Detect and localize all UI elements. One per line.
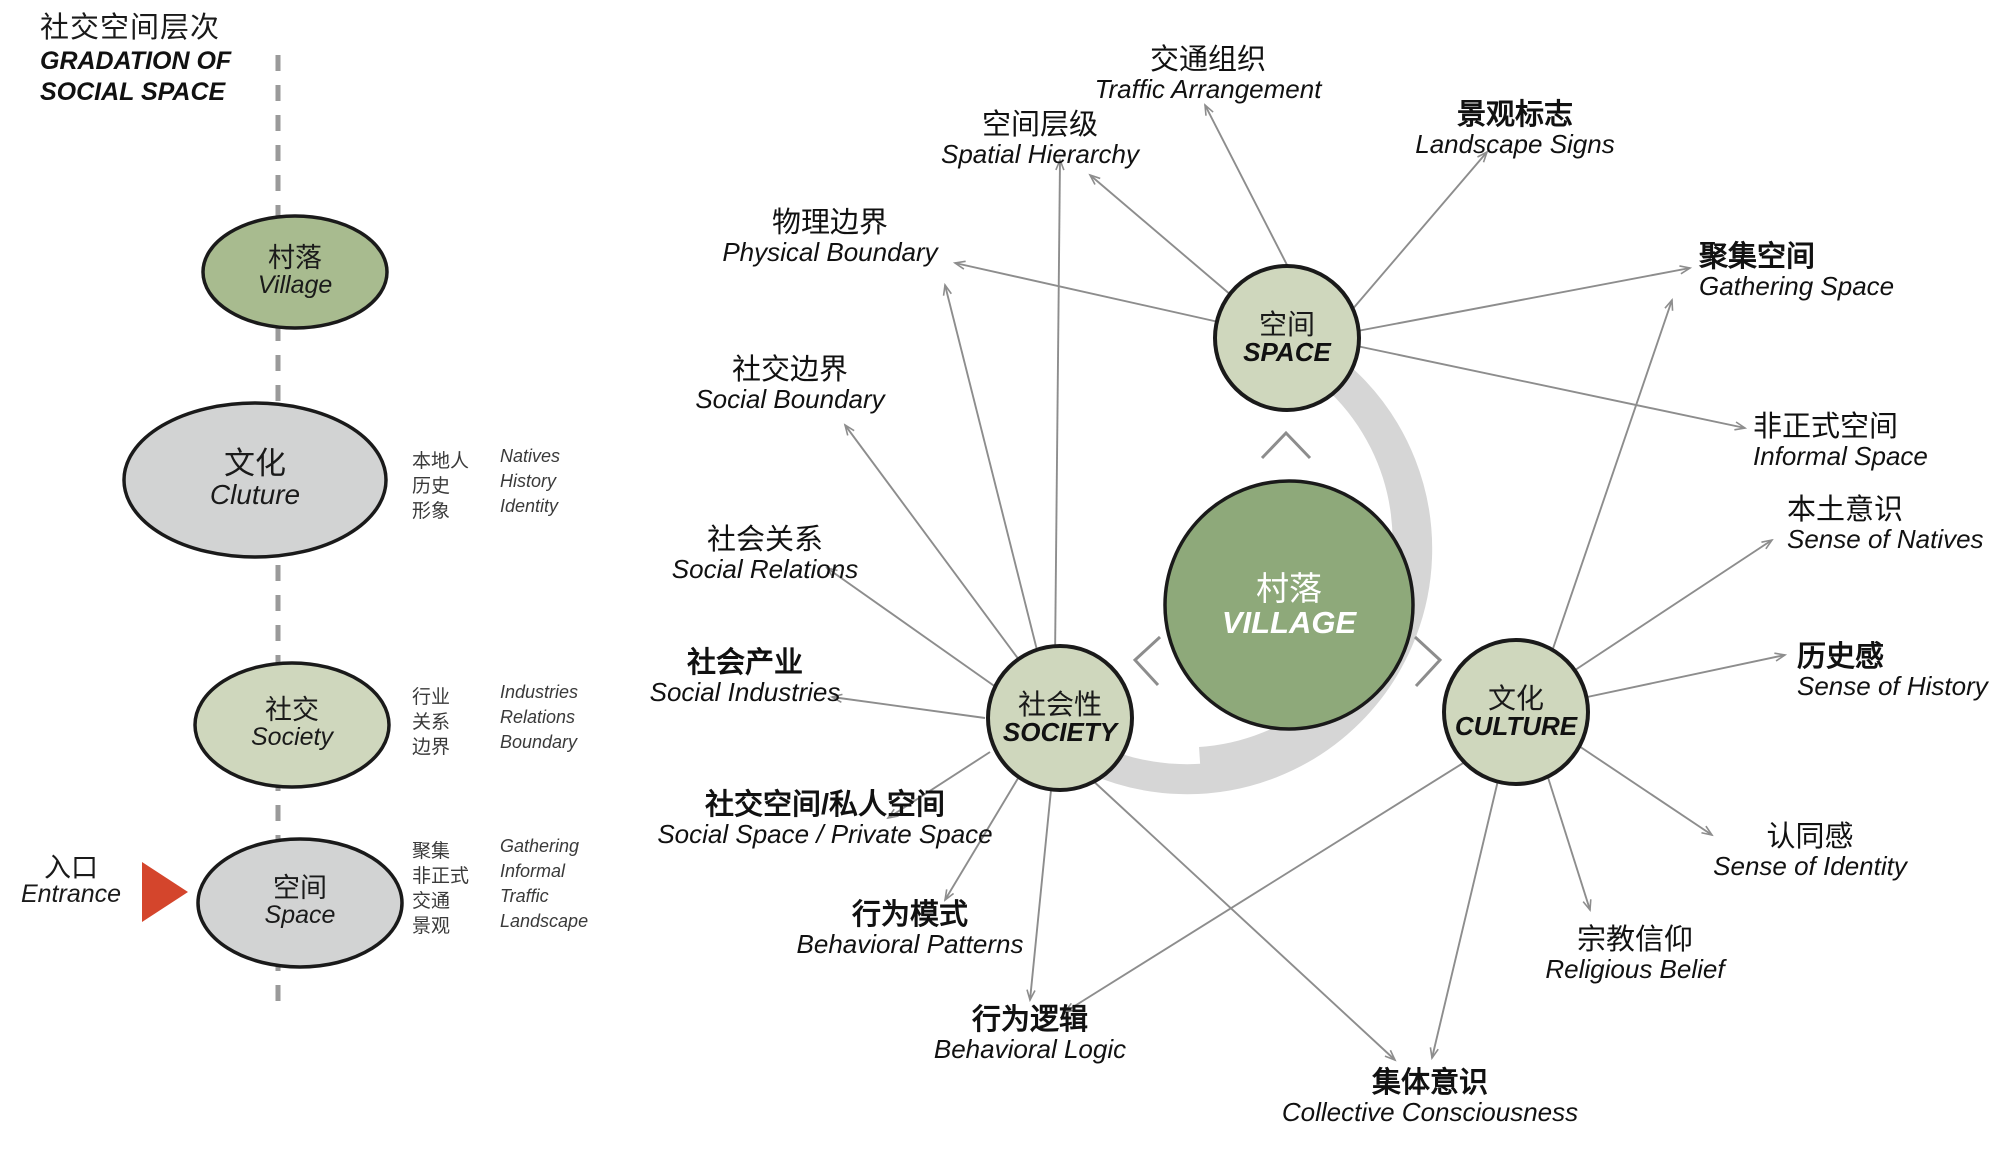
leaf-behavioral-logic-cn: 行为逻辑: [865, 1005, 1195, 1036]
edge-space-informal: [1352, 345, 1745, 428]
attribute-row: 历史History: [412, 471, 560, 496]
stage-label-space-cn: 空间: [220, 874, 380, 902]
leaf-behavioral-logic: 行为逻辑 Behavioral Logic: [865, 1005, 1195, 1063]
edge-culture-natives: [1560, 540, 1772, 680]
leaf-traffic-arrangement-en: Traffic Arrangement: [1028, 76, 1388, 104]
leaf-collective-consciousness: 集体意识 Collective Consciousness: [1245, 1068, 1615, 1126]
attribute-value: Relations: [500, 707, 575, 728]
leaf-sense-of-history-cn: 历史感: [1797, 642, 1988, 673]
stage-label-society-en: Society: [212, 724, 372, 750]
attribute-value: Landscape: [500, 911, 588, 932]
edge-culture-collect: [1432, 772, 1500, 1058]
entrance-label-en: Entrance: [6, 882, 136, 907]
stage-label-culture-cn: 文化: [175, 448, 335, 480]
attribute-value: History: [500, 471, 556, 492]
hub-label-society: 社会性 SOCIETY: [980, 690, 1140, 747]
edge-culture-history: [1573, 655, 1785, 700]
hub-label-culture-cn: 文化: [1436, 684, 1596, 713]
panel-title-en-line1: GRADATION OF: [40, 46, 340, 77]
attribute-row: 关系Relations: [412, 707, 578, 732]
leaf-sense-of-history: 历史感 Sense of History: [1797, 642, 1988, 700]
leaf-collective-consciousness-cn: 集体意识: [1245, 1068, 1615, 1099]
leaf-social-boundary-cn: 社交边界: [625, 355, 955, 386]
edge-culture-gathering: [1545, 300, 1672, 672]
edge-society-boundary-p: [945, 285, 1040, 662]
leaf-behavioral-patterns: 行为模式 Behavioral Patterns: [745, 900, 1075, 958]
leaf-social-relations-cn: 社会关系: [600, 525, 930, 556]
leaf-physical-boundary-cn: 物理边界: [665, 208, 995, 239]
attribute-key: 行业: [412, 682, 500, 709]
stage-label-village-cn: 村落: [215, 244, 375, 272]
leaf-sense-of-natives-en: Sense of Natives: [1787, 526, 1984, 554]
leaf-sense-of-identity: 认同感 Sense of Identity: [1645, 822, 1975, 880]
leaf-traffic-arrangement: 交通组织 Traffic Arrangement: [1028, 45, 1388, 103]
attribute-key: 非正式: [412, 861, 500, 888]
attribute-row: 景观Landscape: [412, 911, 588, 936]
stage-label-space: 空间 Space: [220, 874, 380, 928]
attribute-key: 本地人: [412, 446, 500, 473]
ring-chevron-top: [1262, 433, 1310, 458]
leaf-physical-boundary: 物理边界 Physical Boundary: [665, 208, 995, 266]
edge-society-hierarchy: [1055, 160, 1060, 660]
attribute-key: 关系: [412, 707, 500, 734]
leaf-religious-belief-cn: 宗教信仰: [1470, 925, 1800, 956]
attribute-value: Natives: [500, 446, 560, 467]
core-label-village-en: VILLAGE: [1189, 607, 1389, 640]
ring-chevron-right: [1415, 637, 1440, 686]
leaf-gathering-space: 聚集空间 Gathering Space: [1699, 242, 1894, 300]
panel-title-cn: 社交空间层次: [40, 10, 340, 46]
attribute-value: Industries: [500, 682, 578, 703]
leaf-sense-of-natives-cn: 本土意识: [1787, 495, 1984, 526]
attribute-row: 交通Traffic: [412, 886, 588, 911]
hub-label-society-en: SOCIETY: [980, 719, 1140, 746]
leaf-spatial-hierarchy-en: Spatial Hierarchy: [880, 141, 1200, 169]
entrance-label: 入口 Entrance: [6, 855, 136, 907]
attribute-row: 边界Boundary: [412, 732, 578, 757]
panel-title-en-line2: SOCIAL SPACE: [40, 77, 340, 108]
attribute-value: Traffic: [500, 886, 549, 907]
stage-label-village: 村落 Village: [215, 244, 375, 298]
stage-label-village-en: Village: [215, 272, 375, 298]
leaf-spatial-hierarchy-cn: 空间层级: [880, 110, 1200, 141]
attribute-key: 边界: [412, 732, 500, 759]
leaf-religious-belief-en: Religious Belief: [1470, 956, 1800, 984]
edge-society-behlogic: [1030, 780, 1052, 1000]
core-label-village-cn: 村落: [1189, 572, 1389, 607]
edge-space-physical: [955, 263, 1232, 325]
leaf-behavioral-patterns-cn: 行为模式: [745, 900, 1075, 931]
attribute-key: 形象: [412, 496, 500, 523]
leaf-social-private-space-cn: 社交空间/私人空间: [625, 790, 1025, 821]
leaf-social-industries: 社会产业 Social Industries: [580, 648, 910, 706]
leaf-social-private-space: 社交空间/私人空间 Social Space / Private Space: [625, 790, 1025, 848]
leaf-traffic-arrangement-cn: 交通组织: [1028, 45, 1388, 76]
stage-label-culture-en: Cluture: [175, 480, 335, 509]
leaf-landscape-signs-cn: 景观标志: [1355, 100, 1675, 131]
attribute-key: 交通: [412, 886, 500, 913]
leaf-landscape-signs: 景观标志 Landscape Signs: [1355, 100, 1675, 158]
attribute-key: 聚集: [412, 836, 500, 863]
attribute-value: Boundary: [500, 732, 577, 753]
stage-label-culture: 文化 Cluture: [175, 448, 335, 509]
panel-title: 社交空间层次 GRADATION OF SOCIAL SPACE: [40, 10, 340, 107]
hub-label-space: 空间 SPACE: [1207, 310, 1367, 367]
edge-culture-behlogic: [1065, 760, 1468, 1012]
stage-label-society: 社交 Society: [212, 696, 372, 750]
attributes-space: 聚集Gathering 非正式Informal 交通Traffic 景观Land…: [412, 836, 588, 936]
edge-culture-identity: [1570, 740, 1712, 835]
leaf-social-industries-en: Social Industries: [580, 679, 910, 707]
attribute-value: Identity: [500, 496, 558, 517]
attribute-key: 景观: [412, 911, 500, 938]
entrance-arrow-icon: [142, 862, 188, 922]
leaf-sense-of-identity-cn: 认同感: [1645, 822, 1975, 853]
attribute-row: 形象Identity: [412, 496, 560, 521]
leaf-social-boundary-en: Social Boundary: [625, 386, 955, 414]
leaf-sense-of-identity-en: Sense of Identity: [1645, 853, 1975, 881]
leaf-collective-consciousness-en: Collective Consciousness: [1245, 1099, 1615, 1127]
leaf-social-industries-cn: 社会产业: [580, 648, 910, 679]
attribute-row: 聚集Gathering: [412, 836, 588, 861]
hub-label-culture-en: CULTURE: [1436, 713, 1596, 740]
leaf-gathering-space-cn: 聚集空间: [1699, 242, 1894, 273]
leaf-informal-space-en: Informal Space: [1753, 443, 1928, 471]
leaf-informal-space-cn: 非正式空间: [1753, 412, 1928, 443]
leaf-social-boundary: 社交边界 Social Boundary: [625, 355, 955, 413]
hub-label-society-cn: 社会性: [980, 690, 1140, 719]
diagram-canvas: 社交空间层次 GRADATION OF SOCIAL SPACE 村落 Vill…: [0, 0, 2000, 1150]
attributes-culture: 本地人Natives 历史History 形象Identity: [412, 446, 560, 521]
attributes-society: 行业Industries 关系Relations 边界Boundary: [412, 682, 578, 757]
leaf-religious-belief: 宗教信仰 Religious Belief: [1470, 925, 1800, 983]
attribute-value: Informal: [500, 861, 565, 882]
leaf-gathering-space-en: Gathering Space: [1699, 273, 1894, 301]
edge-space-landscape: [1345, 152, 1487, 318]
attribute-row: 本地人Natives: [412, 446, 560, 471]
attribute-row: 行业Industries: [412, 682, 578, 707]
leaf-sense-of-natives: 本土意识 Sense of Natives: [1787, 495, 1984, 553]
leaf-behavioral-patterns-en: Behavioral Patterns: [745, 931, 1075, 959]
core-label-village: 村落 VILLAGE: [1189, 572, 1389, 639]
edge-culture-religious: [1545, 768, 1590, 910]
leaf-social-private-space-en: Social Space / Private Space: [625, 821, 1025, 849]
hub-label-culture: 文化 CULTURE: [1436, 684, 1596, 741]
leaf-behavioral-logic-en: Behavioral Logic: [865, 1036, 1195, 1064]
attribute-value: Gathering: [500, 836, 579, 857]
ring-chevron-left: [1135, 637, 1160, 685]
leaf-landscape-signs-en: Landscape Signs: [1355, 131, 1675, 159]
leaf-spatial-hierarchy: 空间层级 Spatial Hierarchy: [880, 110, 1200, 168]
attribute-row: 非正式Informal: [412, 861, 588, 886]
leaf-social-relations: 社会关系 Social Relations: [600, 525, 930, 583]
hub-label-space-en: SPACE: [1207, 339, 1367, 366]
edge-space-gathering: [1352, 268, 1690, 332]
leaf-sense-of-history-en: Sense of History: [1797, 673, 1988, 701]
leaf-physical-boundary-en: Physical Boundary: [665, 239, 995, 267]
hub-label-space-cn: 空间: [1207, 310, 1367, 339]
entrance-label-cn: 入口: [6, 855, 136, 882]
stage-label-society-cn: 社交: [212, 696, 372, 724]
leaf-social-relations-en: Social Relations: [600, 556, 930, 584]
stage-label-space-en: Space: [220, 902, 380, 928]
leaf-informal-space: 非正式空间 Informal Space: [1753, 412, 1928, 470]
attribute-key: 历史: [412, 471, 500, 498]
edge-space-hierarchy: [1090, 175, 1245, 307]
